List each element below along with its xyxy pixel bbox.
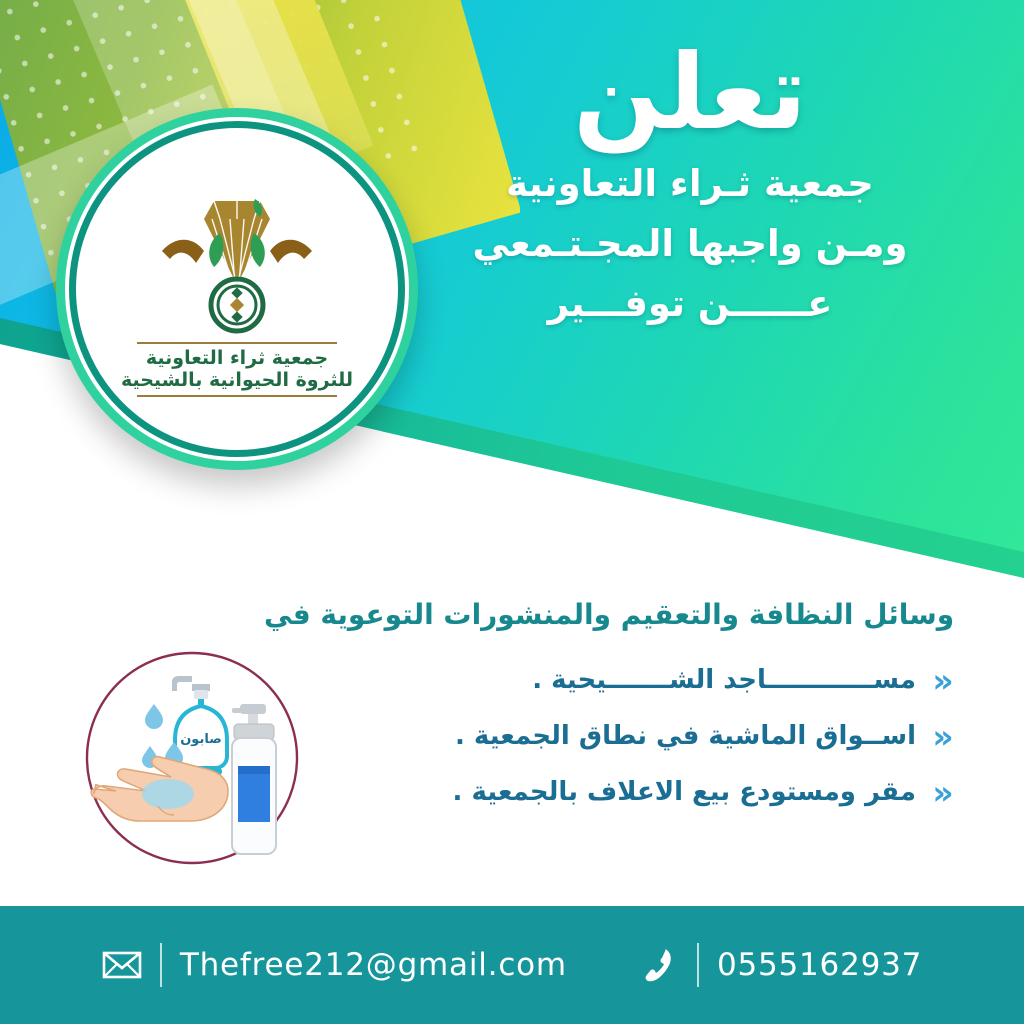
contact-separator xyxy=(160,943,162,987)
contact-footer: Thefree212@gmail.com 0555162937 xyxy=(0,906,1024,1024)
email-address: Thefree212@gmail.com xyxy=(180,947,567,983)
list-item: « مســــــــــــاجد الشـــــــيحية . xyxy=(264,652,964,708)
list-item-label: مقر ومستودع بيع الاعلاف بالجمعية . xyxy=(453,777,916,807)
hand-hygiene-illustration: صابون xyxy=(80,642,312,890)
headline-line-4: عــــــن توفـــير xyxy=(400,274,980,334)
phone-contact[interactable]: 0555162937 xyxy=(639,943,922,987)
logo-title-line2: للثروة الحيوانية بالشيحية xyxy=(121,370,353,391)
contact-separator xyxy=(697,943,699,987)
logo-title-line1: جمعية ثراء التعاونية xyxy=(146,348,328,369)
list-item: « مقر ومستودع بيع الاعلاف بالجمعية . xyxy=(264,764,964,820)
list-item: « اســواق الماشية في نطاق الجمعية . xyxy=(264,708,964,764)
chevron-left-icon: « xyxy=(922,776,964,809)
headline-line-3: ومـن واجبها المجـتـمعي xyxy=(400,214,980,274)
email-contact[interactable]: Thefree212@gmail.com xyxy=(102,943,567,987)
logo-badge: جمعية ثراء التعاونية للثروة الحيوانية با… xyxy=(56,108,418,470)
list-item-label: اســواق الماشية في نطاق الجمعية . xyxy=(455,721,916,751)
poster-canvas: جمعية ثراء التعاونية للثروة الحيوانية با… xyxy=(0,0,1024,1024)
phone-handset-icon xyxy=(639,948,679,982)
body-heading: وسائل النظافة والتعقيم والمنشورات التوعو… xyxy=(264,598,964,631)
chevron-left-icon: « xyxy=(922,720,964,753)
diamond-leaves-emblem-icon xyxy=(142,189,332,339)
logo-divider-bottom xyxy=(137,395,337,397)
logo-divider-top xyxy=(137,342,337,344)
chevron-left-icon: « xyxy=(922,664,964,697)
envelope-icon xyxy=(102,948,142,982)
sanitizer-pump-bottle-icon xyxy=(232,704,276,854)
logo-content: جمعية ثراء التعاونية للثروة الحيوانية با… xyxy=(65,117,409,461)
phone-number: 0555162937 xyxy=(717,947,922,983)
headline-main: تعلن xyxy=(400,40,980,144)
headline-line-2: جمعية ثـراء التعاونية xyxy=(400,154,980,214)
headline-block: تعلن جمعية ثـراء التعاونية ومـن واجبها ا… xyxy=(400,40,980,334)
list-item-label: مســــــــــــاجد الشـــــــيحية . xyxy=(532,665,916,695)
svg-text:صابون: صابون xyxy=(180,732,222,747)
service-locations-list: « مســــــــــــاجد الشـــــــيحية . « ا… xyxy=(264,652,964,820)
